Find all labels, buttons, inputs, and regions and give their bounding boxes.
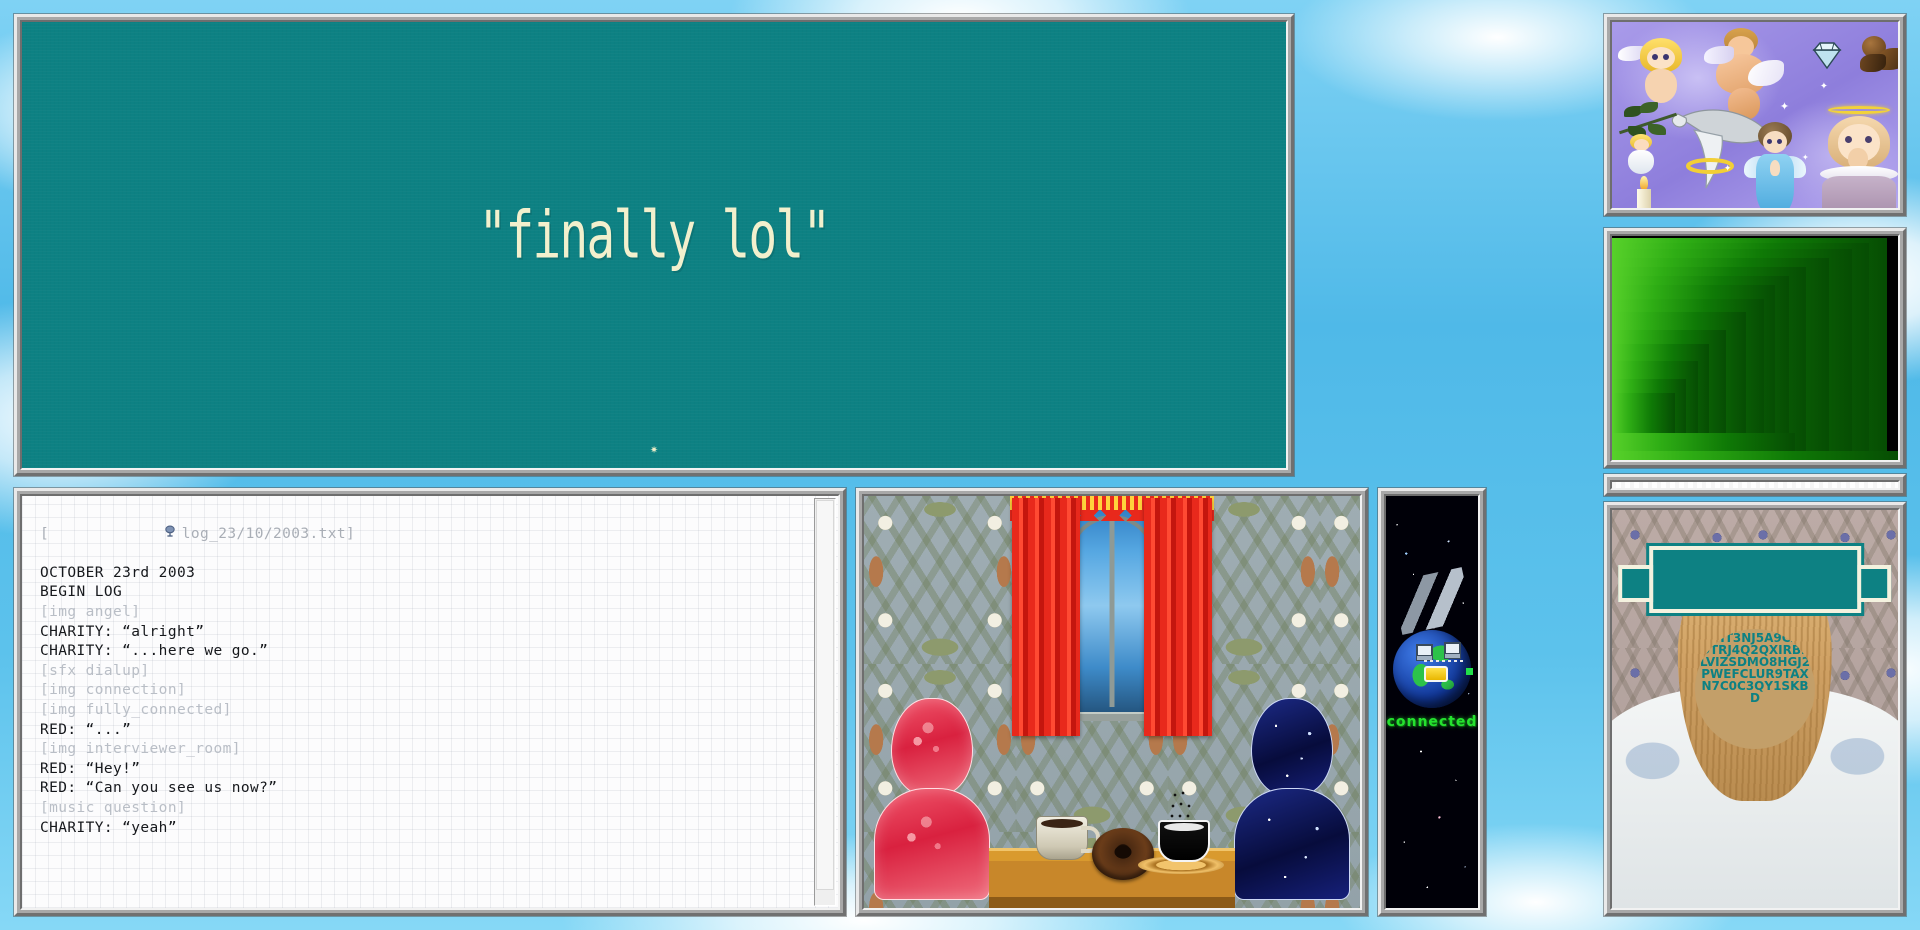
angel-collage: ✦ ✦ ✦ ✦ [1612, 22, 1898, 208]
log-meta-line: [img connection] [40, 681, 814, 701]
network-inner: connected [1384, 494, 1480, 910]
room-scene-window[interactable] [856, 488, 1368, 916]
starfield-background: connected [1386, 496, 1478, 908]
scrambled-face-text: EDIT3NJ5A9CZYOTRJ4Q2QXIRBKLVIZSDMO8HGJ2P… [1695, 629, 1815, 748]
avatar-inner: EDIT3NJ5A9CZYOTRJ4Q2QXIRBKLVIZSDMO8HGJ2P… [1610, 508, 1900, 910]
blue-silhouette [1234, 698, 1350, 900]
steam-icon [1168, 790, 1194, 820]
computer-icon-left [1416, 644, 1433, 658]
log-header-filename: log_23/10/2003.txt] [182, 525, 355, 545]
curtain-right [1144, 498, 1212, 736]
curtain-left [1012, 498, 1080, 736]
log-speech-line: CHARITY: “yeah” [40, 819, 814, 839]
bronze-cherub-icon [1858, 34, 1900, 76]
modem-icon [1424, 666, 1448, 682]
log-speech-line: RED: “Hey!” [40, 760, 814, 780]
log-transcript[interactable]: [ log_23/10/2003.txt] OCTOBER 23rd 2003B… [22, 496, 814, 908]
white-mug [1036, 816, 1088, 860]
window-mullion [1110, 513, 1115, 707]
signal-meter-window[interactable] [1604, 228, 1906, 468]
log-file-header: [ log_23/10/2003.txt] [40, 505, 814, 564]
red-silhouette [874, 698, 990, 900]
log-window[interactable]: [ log_23/10/2003.txt] OCTOBER 23rd 2003B… [14, 488, 846, 916]
meter-step [1612, 451, 1898, 460]
connection-status-label: connected [1386, 714, 1478, 730]
log-meta-line: [sfx dialup] [40, 662, 814, 682]
censor-bar [1649, 546, 1861, 614]
halo-icon [1828, 106, 1890, 114]
wallpaper-background [864, 496, 1360, 908]
log-meta-line: [img interviewer_room] [40, 740, 814, 760]
network-node-icon [1466, 668, 1473, 675]
red-silhouette-head [891, 698, 973, 796]
small-angel-icon [1624, 134, 1658, 176]
network-status-window[interactable]: connected [1378, 488, 1486, 916]
signal-meter-inner [1610, 234, 1900, 462]
mouse-icon [54, 505, 177, 564]
log-speech-line: CHARITY: “alright” [40, 623, 814, 643]
log-meta-line: [img angel] [40, 603, 814, 623]
sparkle-icon: ✦ [1802, 150, 1809, 163]
stage-inner: "finally lol" ✷ [20, 20, 1288, 470]
avatar-window[interactable]: EDIT3NJ5A9CZYOTRJ4Q2QXIRBKLVIZSDMO8HGJ2P… [1604, 502, 1906, 916]
log-meta-line: [img fully_connected] [40, 701, 814, 721]
log-scrollbar-thumb[interactable] [816, 500, 834, 890]
main-stage-window[interactable]: "finally lol" ✷ [14, 14, 1294, 476]
log-speech-line: RED: “...” [40, 721, 814, 741]
donut [1092, 828, 1154, 880]
log-speech-line: CHARITY: “...here we go.” [40, 642, 814, 662]
computer-icon-right [1444, 642, 1461, 656]
sparkle-icon: ✷ [650, 443, 658, 456]
sparkle-icon: ✦ [1820, 78, 1828, 93]
log-meta-line: [music question] [40, 799, 814, 819]
candle-icon [1624, 176, 1664, 210]
sparkle-icon: ✦ [1724, 160, 1731, 174]
sparkle-icon: ✦ [1780, 96, 1789, 114]
diamond-gem-icon [1808, 40, 1846, 70]
separator-strip-inner [1610, 480, 1900, 490]
blue-silhouette-head [1251, 698, 1333, 796]
stage-surface: "finally lol" ✷ [22, 22, 1286, 468]
black-mug [1158, 820, 1210, 862]
room-inner [862, 494, 1362, 910]
log-surface: [ log_23/10/2003.txt] OCTOBER 23rd 2003B… [22, 496, 838, 908]
log-speech-line: OCTOBER 23rd 2003 [40, 564, 814, 584]
angel-collage-window[interactable]: ✦ ✦ ✦ ✦ [1604, 14, 1906, 216]
halo-angel-icon [1812, 106, 1900, 210]
satellite-icon [1391, 567, 1473, 635]
separator-strip-window [1604, 474, 1906, 496]
avatar-wallpaper: EDIT3NJ5A9CZYOTRJ4Q2QXIRBKLVIZSDMO8HGJ2P… [1612, 510, 1898, 908]
log-inner: [ log_23/10/2003.txt] OCTOBER 23rd 2003B… [20, 494, 840, 910]
red-silhouette-body [874, 788, 990, 900]
network-cable [1424, 660, 1466, 662]
angel-collage-inner: ✦ ✦ ✦ ✦ [1610, 20, 1900, 210]
log-header-prefix: [ [40, 525, 49, 545]
log-speech-line: RED: “Can you see us now?” [40, 779, 814, 799]
log-speech-line: BEGIN LOG [40, 583, 814, 603]
stage-title: "finally lol" [479, 197, 830, 273]
separator-strip [1612, 482, 1898, 488]
praying-blue-angel-icon [1744, 122, 1806, 210]
signal-meter [1612, 236, 1898, 460]
blue-silhouette-body [1234, 788, 1350, 900]
log-scrollbar[interactable] [814, 498, 836, 906]
